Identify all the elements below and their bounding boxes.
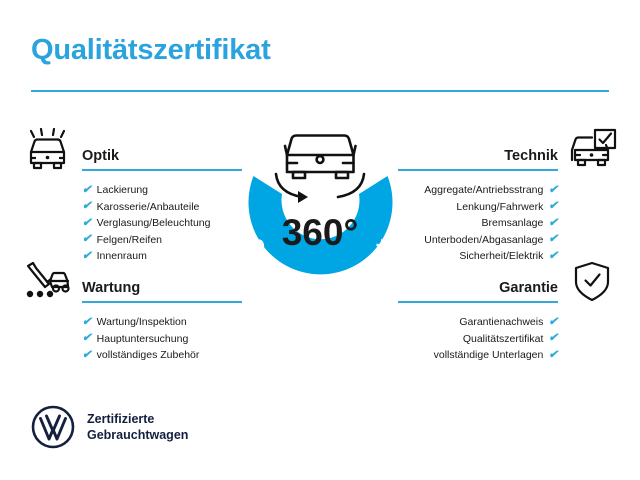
section-underline-wartung bbox=[82, 301, 242, 303]
check-icon: ✔ bbox=[82, 317, 92, 329]
list-item-label: vollständiges Zubehör bbox=[97, 347, 200, 364]
check-icon: ✔ bbox=[548, 317, 558, 329]
list-item-label: Karosserie/Anbauteile bbox=[97, 199, 200, 216]
badge-center-label: 360° bbox=[282, 212, 359, 253]
list-item: ✔Wartung/Inspektion bbox=[22, 314, 242, 331]
list-item: ✔Karosserie/Anbauteile bbox=[22, 199, 242, 216]
checklist-optik: ✔Lackierung ✔Karosserie/Anbauteile ✔Verg… bbox=[22, 182, 242, 265]
list-item: Aggregate/Antriebsstrang✔ bbox=[398, 182, 618, 199]
check-icon: ✔ bbox=[548, 218, 558, 230]
check-icon: ✔ bbox=[82, 185, 92, 197]
rotation-arrowhead bbox=[298, 191, 308, 203]
section-optik: Optik ✔Lackierung ✔Karosserie/Anbauteile… bbox=[22, 128, 242, 265]
check-icon: ✔ bbox=[82, 333, 92, 345]
checklist-wartung: ✔Wartung/Inspektion ✔Hauptuntersuchung ✔… bbox=[22, 314, 242, 364]
list-item-label: Bremsanlage bbox=[481, 215, 543, 232]
section-underline-garantie bbox=[398, 301, 558, 303]
check-icon: ✔ bbox=[82, 201, 92, 213]
checklist-garantie: Garantienachweis✔ Qualitätszertifikat✔ v… bbox=[398, 314, 618, 364]
section-underline-technik bbox=[398, 169, 558, 171]
list-item: ✔Verglasung/Beleuchtung bbox=[22, 215, 242, 232]
footer-line-1: Zertifizierte bbox=[87, 411, 188, 427]
car-checkbox-icon bbox=[566, 128, 618, 172]
section-title-wartung: Wartung bbox=[82, 280, 140, 296]
check-icon: ✔ bbox=[82, 234, 92, 246]
footer-brand-text: Zertifizierte Gebrauchtwagen bbox=[87, 411, 188, 443]
list-item-label: Verglasung/Beleuchtung bbox=[97, 215, 211, 232]
car-shine-icon bbox=[22, 128, 74, 172]
list-item: Unterboden/Abgasanlage✔ bbox=[398, 232, 618, 249]
list-item-label: Qualitätszertifikat bbox=[463, 331, 544, 348]
badge-360-gebrauchtwagen-check: Gebrauchtwagen-Check 360° bbox=[228, 118, 413, 318]
list-item: Lenkung/Fahrwerk✔ bbox=[398, 199, 618, 216]
check-icon: ✔ bbox=[82, 350, 92, 362]
check-icon: ✔ bbox=[548, 333, 558, 345]
list-item: ✔Felgen/Reifen bbox=[22, 232, 242, 249]
list-item-label: Aggregate/Antriebsstrang bbox=[424, 182, 543, 199]
section-header-garantie: Garantie bbox=[398, 260, 618, 306]
car-rotation-icon bbox=[276, 136, 364, 204]
section-header-wartung: Wartung bbox=[22, 260, 242, 306]
list-item: Bremsanlage✔ bbox=[398, 215, 618, 232]
section-garantie: Garantie Garantienachweis✔ Qualitätszert… bbox=[398, 260, 618, 364]
section-header-technik: Technik bbox=[398, 128, 618, 174]
list-item: ✔vollständiges Zubehör bbox=[22, 347, 242, 364]
page-title: Qualitätszertifikat bbox=[31, 34, 271, 67]
section-title-optik: Optik bbox=[82, 148, 119, 164]
list-item-label: Unterboden/Abgasanlage bbox=[424, 232, 543, 249]
check-icon: ✔ bbox=[82, 218, 92, 230]
list-item: ✔Hauptuntersuchung bbox=[22, 331, 242, 348]
list-item-label: Lackierung bbox=[97, 182, 148, 199]
section-underline-optik bbox=[82, 169, 242, 171]
list-item: vollständige Unterlagen✔ bbox=[398, 347, 618, 364]
footer-line-2: Gebrauchtwagen bbox=[87, 427, 188, 443]
list-item-label: Lenkung/Fahrwerk bbox=[456, 199, 543, 216]
list-item: Garantienachweis✔ bbox=[398, 314, 618, 331]
list-item-label: Felgen/Reifen bbox=[97, 232, 162, 249]
list-item: ✔Lackierung bbox=[22, 182, 242, 199]
shield-check-icon bbox=[566, 260, 618, 304]
list-item-label: Garantienachweis bbox=[459, 314, 543, 331]
list-item-label: Wartung/Inspektion bbox=[97, 314, 187, 331]
section-header-optik: Optik bbox=[22, 128, 242, 174]
check-icon: ✔ bbox=[548, 234, 558, 246]
section-technik: Technik Aggregate/Antriebsstrang✔ Lenkun… bbox=[398, 128, 618, 265]
check-icon: ✔ bbox=[548, 201, 558, 213]
check-icon: ✔ bbox=[548, 350, 558, 362]
wrench-car-icon bbox=[22, 260, 74, 304]
title-divider bbox=[31, 90, 609, 92]
section-title-garantie: Garantie bbox=[499, 280, 558, 296]
checklist-technik: Aggregate/Antriebsstrang✔ Lenkung/Fahrwe… bbox=[398, 182, 618, 265]
section-title-technik: Technik bbox=[504, 148, 558, 164]
list-item-label: vollständige Unterlagen bbox=[434, 347, 544, 364]
list-item: Qualitätszertifikat✔ bbox=[398, 331, 618, 348]
vw-logo bbox=[31, 405, 75, 449]
section-wartung: Wartung ✔Wartung/Inspektion ✔Hauptunters… bbox=[22, 260, 242, 364]
list-item-label: Hauptuntersuchung bbox=[97, 331, 189, 348]
footer-brand: Zertifizierte Gebrauchtwagen bbox=[31, 405, 188, 449]
check-icon: ✔ bbox=[548, 185, 558, 197]
qualitaetszertifikat-page: Qualitätszertifikat bbox=[0, 0, 640, 480]
